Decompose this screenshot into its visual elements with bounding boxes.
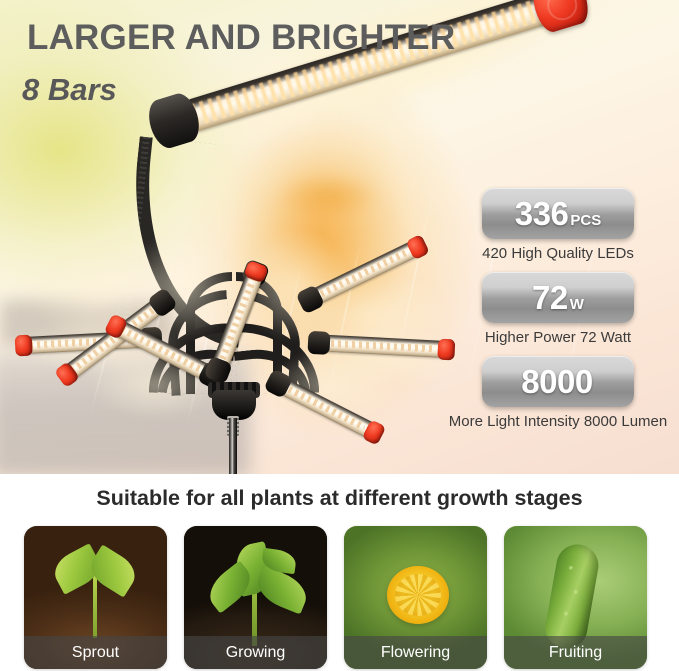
flower-bloom: [387, 566, 449, 624]
badge-caption: 420 High Quality LEDs: [437, 245, 679, 262]
page-title: LARGER AND BRIGHTER: [27, 18, 455, 58]
plant-leaf: [252, 565, 312, 614]
badge-pill: 336 PCS: [482, 188, 634, 239]
stage-label: Growing: [184, 636, 327, 669]
stage-card-sprout: Sprout: [24, 526, 167, 669]
badge-unit: W: [570, 296, 584, 313]
bar-red-end-cap: [362, 419, 387, 445]
plant-stem: [93, 576, 97, 638]
cucumber-fruit: [542, 541, 601, 651]
stage-label: Sprout: [24, 636, 167, 669]
badge-pill: 8000: [482, 356, 634, 407]
spec-badge-leds: 336 PCS 420 High Quality LEDs: [437, 188, 679, 262]
hero-section: LARGER AND BRIGHTER 8 Bars 336 PCS 420 H…: [0, 0, 679, 474]
stage-card-list: Sprout Growing Flowering: [24, 526, 647, 669]
bar-black-base: [307, 331, 330, 355]
stage-card-flowering: Flowering: [344, 526, 487, 669]
bar-red-end-cap: [405, 234, 429, 260]
lamp-pole: [229, 418, 237, 474]
led-diodes: [324, 340, 436, 353]
bar-red-end-cap: [15, 335, 33, 357]
spec-badge-list: 336 PCS 420 High Quality LEDs 72 W Highe…: [437, 188, 679, 440]
badge-caption: More Light Intensity 8000 Lumen: [437, 413, 679, 430]
eight-bar-lamp-assembly: [0, 230, 480, 474]
product-feature-graphic: LARGER AND BRIGHTER 8 Bars 336 PCS 420 H…: [0, 0, 679, 671]
spec-badge-lumen: 8000 More Light Intensity 8000 Lumen: [437, 356, 679, 430]
badge-unit: PCS: [570, 212, 601, 229]
page-subtitle: 8 Bars: [22, 72, 117, 108]
stage-label: Flowering: [344, 636, 487, 669]
growth-stages-section: Suitable for all plants at different gro…: [0, 474, 679, 671]
badge-pill: 72 W: [482, 272, 634, 323]
badge-number: 336: [515, 197, 569, 230]
badge-number: 8000: [521, 365, 592, 398]
spec-badge-power: 72 W Higher Power 72 Watt: [437, 272, 679, 346]
badge-number: 72: [532, 281, 568, 314]
badge-caption: Higher Power 72 Watt: [437, 329, 679, 346]
stage-label: Fruiting: [504, 636, 647, 669]
section-title: Suitable for all plants at different gro…: [0, 486, 679, 511]
stage-card-fruiting: Fruiting: [504, 526, 647, 669]
stage-card-growing: Growing: [184, 526, 327, 669]
